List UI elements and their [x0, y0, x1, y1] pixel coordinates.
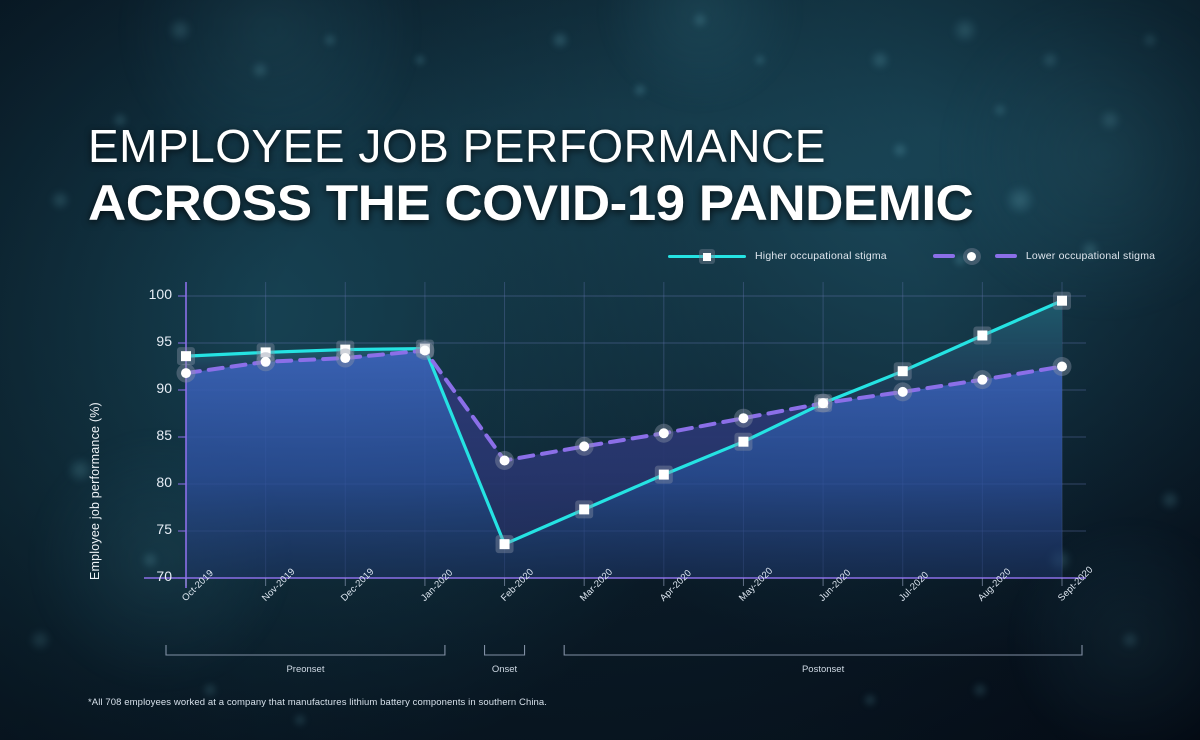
y-tick-label: 70 [128, 568, 172, 584]
chart-legend: Higher occupational stigma Lower occupat… [668, 248, 1155, 264]
legend-label-higher-stigma: Higher occupational stigma [755, 250, 887, 262]
line-chart [0, 0, 1200, 740]
legend-item-lower-stigma[interactable]: Lower occupational stigma [933, 248, 1155, 264]
legend-label-lower-stigma: Lower occupational stigma [1026, 250, 1155, 262]
legend-line-solid-icon [668, 249, 746, 263]
legend-item-higher-stigma[interactable]: Higher occupational stigma [668, 249, 887, 263]
legend-line-dashed-icon [933, 248, 1017, 264]
chart-footnote: *All 708 employees worked at a company t… [88, 697, 547, 708]
chart-phase-brackets [166, 645, 1082, 655]
y-tick-label: 100 [128, 286, 172, 302]
y-tick-label: 80 [128, 474, 172, 490]
y-axis-title: Employee job performance (%) [0, 0, 6, 292]
y-tick-label: 95 [128, 333, 172, 349]
y-tick-label: 90 [128, 380, 172, 396]
page-title-line1: EMPLOYEE JOB PERFORMANCE [88, 122, 923, 170]
y-axis-title-text: Employee job performance (%) [88, 280, 102, 580]
y-tick-label: 85 [128, 427, 172, 443]
page-title-line2: ACROSS THE COVID-19 PANDEMIC [88, 176, 973, 230]
phase-label: Preonset [286, 664, 324, 675]
phase-label: Onset [492, 664, 517, 675]
title-block: EMPLOYEE JOB PERFORMANCE ACROSS THE COVI… [88, 122, 923, 230]
phase-label: Postonset [802, 664, 844, 675]
y-tick-label: 75 [128, 521, 172, 537]
